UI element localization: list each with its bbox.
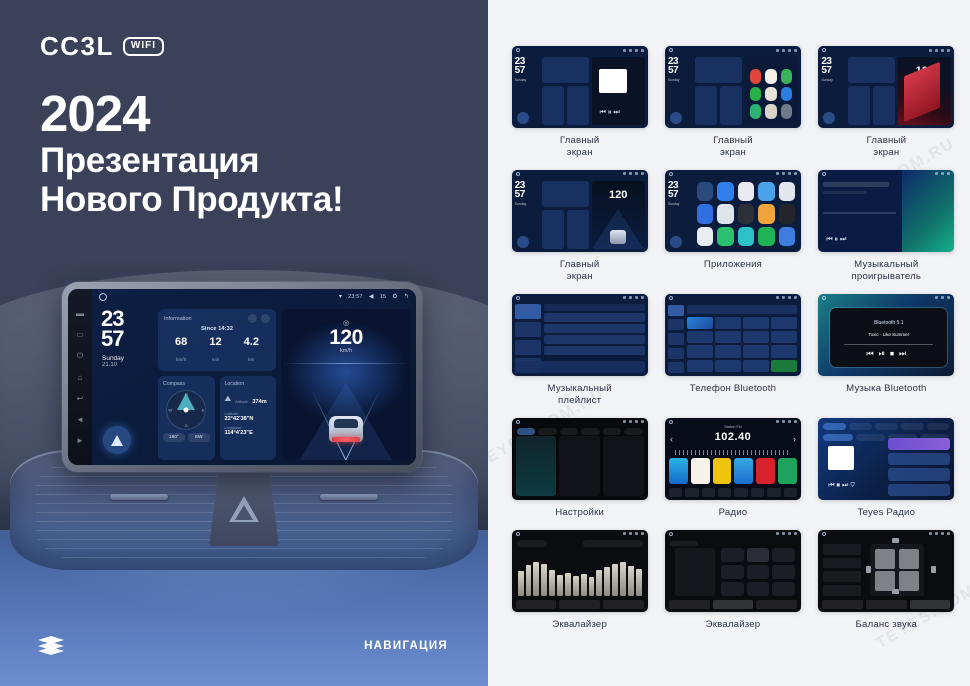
compass-direction: SW	[188, 433, 210, 442]
bluetooth-version: Bluetooth 5.1	[830, 320, 947, 326]
location-card[interactable]: Location ⛰ Altitude 374m	[220, 376, 277, 460]
thumb-clock: 2357Sunday	[515, 57, 539, 125]
side-button-column[interactable]: ▬ ▭ ⏻ ⌂ ↩ ◄ ►	[68, 289, 92, 465]
screen-thumbnail-home-speed-red[interactable]: 2357Sunday 105	[818, 46, 954, 128]
screen-thumbnail-home-apps[interactable]: 2357Sunday	[665, 46, 801, 128]
side-button-eject-icon[interactable]: ▭	[76, 330, 85, 339]
balance-presets[interactable]	[823, 544, 861, 596]
status-volume: 15	[380, 294, 387, 300]
longitude-label: Longitude	[225, 426, 272, 430]
carplay-panel	[559, 436, 600, 496]
location-latitude: Latitude 22°42'38"N	[225, 412, 272, 422]
compass-s: S	[185, 423, 188, 428]
gallery-caption: Музыкальный проигрыватель	[852, 259, 922, 283]
preset-tile	[747, 565, 770, 579]
hazard-triangle-icon	[229, 496, 259, 522]
screens-gallery-panel: TEYES.COM.RU TEYES.COM.RU TEYES.COM.RU T…	[488, 0, 970, 686]
station-presets[interactable]	[669, 458, 797, 484]
gallery-item[interactable]: Музыкальный плейлист	[506, 294, 653, 418]
station-preset	[669, 458, 688, 484]
gallery-item[interactable]: 2357Sunday Приложения	[659, 170, 806, 294]
list-item	[888, 438, 950, 450]
tab-display	[560, 428, 579, 435]
compass-center-dot	[184, 408, 189, 413]
screen-thumbnail-settings[interactable]	[512, 418, 648, 500]
dialpad-key	[743, 345, 769, 357]
dialpad-key	[715, 345, 741, 357]
screen-thumbnail-music-player[interactable]: ⏮ ⏸ ⏭	[818, 170, 954, 252]
teyes-tabs[interactable]	[823, 423, 949, 430]
screen-thumbnail-teyes-radio[interactable]: ⏮ ⏹ ⏭ ♡	[818, 418, 954, 500]
bluetooth-player-card: Bluetooth 5.1 Toxic · Like Summer ⏮⏯⏹⏭	[830, 308, 947, 367]
status-time: 23:57	[348, 294, 363, 300]
head-unit-bezel: ▬ ▭ ⏻ ⌂ ↩ ◄ ► ▾ 23:57 ◀ 15	[68, 289, 416, 465]
headline-line2: Нового Продукта!	[40, 180, 460, 220]
audio-tabs[interactable]	[669, 600, 797, 609]
screen-thumbnail-home-speed[interactable]: 2357Sunday 120	[512, 170, 648, 252]
station-preset	[756, 458, 775, 484]
speed-unit: km/h	[281, 348, 411, 354]
more-panel	[603, 436, 644, 496]
app-drawer-grid[interactable]	[695, 180, 797, 248]
location-altitude: ⛰ Altitude 374m	[225, 390, 272, 408]
track-artist	[823, 191, 867, 194]
home-screen-content: 23 57 Sunday 21.10 Information	[92, 304, 416, 465]
gallery-caption: Главный экран	[560, 135, 600, 159]
preset-tile	[747, 582, 770, 596]
sound-effect-presets[interactable]	[721, 548, 795, 596]
vent-knob-right	[320, 494, 378, 500]
dialpad-key	[771, 331, 797, 343]
radio-frequency: 102.40	[665, 431, 801, 443]
vent-knob-left	[110, 494, 168, 500]
hazard-button[interactable]	[209, 470, 279, 546]
tab-system	[581, 428, 600, 435]
information-header: Information	[164, 314, 270, 323]
equalizer-sliders[interactable]	[518, 552, 642, 596]
station-preset	[778, 458, 797, 484]
navigation-label: НАВИГАЦИЯ	[364, 640, 448, 652]
section-label	[670, 541, 698, 546]
screen-thumbnail-balance[interactable]	[818, 530, 954, 612]
gallery-caption: Главный экран	[560, 259, 600, 283]
call-button	[771, 360, 797, 372]
head-unit-screen[interactable]: ▾ 23:57 ◀ 15 ⚙ ↰ 23 57 Sunday	[92, 289, 416, 465]
information-title: Information	[164, 316, 192, 322]
layers-icon[interactable]	[38, 636, 64, 656]
now-playing-bar[interactable]	[515, 361, 645, 373]
album-art	[828, 446, 854, 470]
bass-treble-sliders[interactable]	[675, 548, 715, 596]
dialpad-key	[687, 317, 713, 329]
preset-tile	[772, 565, 795, 579]
prev-station-button[interactable]: ‹	[670, 434, 673, 444]
gallery-caption: Баланс звука	[856, 619, 918, 631]
presentation-slide: CC3L WIFI 2024 Презентация Нового Продук…	[0, 0, 970, 686]
compass-heading: 180°	[163, 433, 185, 442]
gallery-item[interactable]: 2357Sunday 120 Главный экран	[506, 170, 653, 294]
preset-tile	[747, 548, 770, 562]
gallery-caption: Главный экран	[713, 135, 753, 159]
screen-thumbnail-radio[interactable]: Station FM 102.40 ‹ ›	[665, 418, 801, 500]
list-item	[544, 335, 645, 344]
list-item	[544, 313, 645, 322]
next-station-button[interactable]: ›	[793, 434, 796, 444]
compass-w: W	[168, 408, 172, 413]
screen-thumbnail-bt-phone[interactable]	[665, 294, 801, 376]
preset-tile	[721, 565, 744, 579]
brand-logo: CC3L WIFI	[40, 33, 164, 59]
head-unit-device: ▬ ▭ ⏻ ⌂ ↩ ◄ ► ▾ 23:57 ◀ 15	[62, 282, 422, 472]
left-button[interactable]	[866, 566, 871, 573]
screen-thumbnail-apps[interactable]: 2357Sunday	[665, 170, 801, 252]
dialpad-key	[771, 345, 797, 357]
clock-date: 21.10	[97, 362, 153, 368]
side-button-volume-down-icon[interactable]: ◄	[76, 415, 85, 424]
compass-title: Compass	[163, 381, 210, 387]
home-icon	[516, 48, 520, 52]
gallery-item[interactable]: ⏮ ⏹ ⏭ ♡ Teyes Радио	[813, 418, 960, 530]
dialpad-key	[743, 331, 769, 343]
teyes-now-playing: ⏮ ⏹ ⏭ ♡	[822, 438, 882, 496]
trip-since: Since 14:32	[164, 326, 270, 332]
app-shortcuts[interactable]	[748, 67, 794, 121]
compass-n: N	[185, 392, 188, 397]
headline: 2024 Презентация Нового Продукта!	[40, 88, 460, 220]
tuning-scale[interactable]	[675, 450, 791, 455]
car-avatar	[329, 416, 363, 448]
settings-tabs[interactable]	[517, 428, 643, 435]
list-item	[888, 468, 950, 480]
gallery-item[interactable]: 2357Sunday 105 Главный экран	[813, 46, 960, 170]
dialpad-key	[771, 317, 797, 329]
gallery-caption: Музыка Bluetooth	[846, 383, 926, 395]
compass-dial: N S E W	[166, 390, 206, 430]
gallery-caption: Телефон Bluetooth	[690, 383, 776, 395]
front-button[interactable]	[892, 538, 899, 543]
list-item	[544, 324, 645, 333]
album-art	[599, 69, 627, 93]
dialpad-key	[715, 331, 741, 343]
gallery-item[interactable]: ⏮ ⏸ ⏭ Музыкальный проигрыватель	[813, 170, 960, 294]
progress-bar[interactable]	[844, 344, 933, 346]
side-button-power-icon[interactable]: ⏻	[76, 351, 85, 360]
stat-duration: 12 min	[209, 336, 221, 366]
gallery-item[interactable]: 2357Sunday ⏮ ⏸ ⏭ Главный экран	[506, 46, 653, 170]
wifi-icon: ▾	[339, 293, 342, 300]
refresh-icon[interactable]	[248, 314, 257, 323]
headline-year: 2024	[40, 88, 460, 141]
gallery-item[interactable]: 2357Sunday Главный экран	[659, 46, 806, 170]
gallery-item[interactable]: Эквалайзер	[659, 530, 806, 642]
gallery-caption: Радио	[719, 507, 748, 519]
dialpad-key	[687, 331, 713, 343]
gallery-item[interactable]: Настройки	[506, 418, 653, 530]
compass-card[interactable]: Compass N S E W	[158, 376, 215, 460]
screen-thumbnail-bt-music[interactable]: Bluetooth 5.1 Toxic · Like Summer ⏮⏯⏹⏭	[818, 294, 954, 376]
playback-controls[interactable]: ⏮ ⏸ ⏭	[826, 236, 846, 244]
list-item	[888, 453, 950, 465]
tab-sound	[538, 428, 557, 435]
settings-panels[interactable]	[516, 436, 644, 496]
car-window	[334, 419, 358, 428]
longitude-value: 114°4'23"E	[225, 430, 272, 436]
audio-tabs[interactable]	[822, 600, 950, 609]
speed-value: 120	[592, 189, 645, 201]
screen-thumbnail-playlist[interactable]	[512, 294, 648, 376]
preset-tile	[772, 582, 795, 596]
left-hero-panel: CC3L WIFI 2024 Презентация Нового Продук…	[0, 0, 488, 686]
lower-widgets-row: Compass N S E W	[158, 376, 276, 460]
dialpad-key	[715, 360, 741, 372]
brand-model: CC3L	[40, 33, 114, 59]
status-home-icon[interactable]	[99, 293, 107, 301]
clock-widget: 23 57 Sunday 21.10	[97, 309, 153, 460]
gallery-caption: Эквалайзер	[706, 619, 761, 631]
wifi-badge: WIFI	[123, 37, 164, 56]
compass-e: E	[202, 408, 205, 413]
preset-tile	[721, 548, 744, 562]
playback-controls[interactable]: ⏮ ⏹ ⏭ ♡	[828, 482, 855, 490]
playback-controls[interactable]: ⏮⏯⏹⏭	[830, 349, 947, 359]
location-title: Location	[225, 381, 272, 387]
navigation-arrow-icon[interactable]	[103, 426, 131, 454]
trip-stats: 68 km/h 12 min 4.2 km	[164, 336, 270, 366]
screen-thumbnail-equalizer-bars[interactable]	[512, 530, 648, 612]
gallery-caption: Teyes Радио	[858, 507, 916, 519]
preset-label	[517, 540, 547, 547]
gallery-item[interactable]: Bluetooth 5.1 Toxic · Like Summer ⏮⏯⏹⏭ М…	[813, 294, 960, 418]
side-button-home-icon[interactable]: ⌂	[76, 373, 85, 382]
dialpad-key	[743, 317, 769, 329]
stat-distance: 4.2 km	[244, 336, 259, 366]
rear-button[interactable]	[892, 589, 899, 594]
tab-general	[603, 428, 622, 435]
station-preset	[713, 458, 732, 484]
latitude-label: Latitude	[225, 412, 272, 416]
radio-band: Station FM	[665, 425, 801, 429]
screens-grid: 2357Sunday ⏮ ⏸ ⏭ Главный экран	[506, 46, 960, 642]
preset-tile	[721, 582, 744, 596]
radio-toolbar[interactable]	[669, 488, 797, 497]
bt-track-title: Toxic · Like Summer	[830, 332, 947, 337]
dialpad-key	[715, 317, 741, 329]
speedometer-icon: ◎	[281, 319, 411, 327]
gallery-caption: Эквалайзер	[552, 619, 607, 631]
preset-tile	[772, 548, 795, 562]
teyes-station-list[interactable]	[888, 438, 950, 496]
back-icon[interactable]: ↰	[404, 293, 409, 300]
horizon-line	[281, 363, 411, 364]
waveform-art	[902, 170, 954, 252]
expand-icon[interactable]	[261, 314, 270, 323]
dialpad-key	[687, 345, 713, 357]
side-button-volume-up-icon[interactable]: ►	[76, 436, 85, 445]
audio-tabs[interactable]	[516, 600, 644, 609]
dialed-number-field[interactable]	[687, 305, 797, 314]
clock-weekday: Sunday	[97, 355, 153, 362]
progress-bar[interactable]	[823, 212, 896, 214]
station-preset	[691, 458, 710, 484]
gallery-caption: Главный экран	[867, 135, 907, 159]
clock-minutes: 57	[97, 329, 153, 349]
gallery-item[interactable]: Баланс звука	[813, 530, 960, 642]
gallery-caption: Настройки	[555, 507, 604, 519]
left-footer: НАВИГАЦИЯ	[0, 616, 488, 686]
wifi-panel	[516, 436, 557, 496]
information-actions[interactable]	[248, 314, 270, 323]
right-button[interactable]	[931, 566, 936, 573]
gallery-caption: Приложения	[704, 259, 762, 271]
speed-value: 120	[281, 327, 411, 348]
list-item	[888, 484, 950, 496]
phone-sidebar[interactable]	[668, 305, 684, 373]
information-card[interactable]: Information Since 14:32 68	[158, 309, 276, 371]
driving-view-widget[interactable]: ◎ 120 km/h	[281, 309, 411, 460]
side-button-mute-icon[interactable]: ▬	[76, 309, 85, 318]
screen-thumbnail-home-media[interactable]: 2357Sunday ⏮ ⏸ ⏭	[512, 46, 648, 128]
station-preset	[734, 458, 753, 484]
screen-thumbnail-equalizer-sliders[interactable]	[665, 530, 801, 612]
status-bar: ▾ 23:57 ◀ 15 ⚙ ↰	[92, 289, 416, 304]
altitude-label: Altitude	[235, 400, 248, 404]
dialpad[interactable]	[687, 317, 797, 372]
track-title	[823, 182, 889, 187]
dialpad-key	[687, 360, 713, 372]
widgets-column: Information Since 14:32 68	[158, 309, 276, 460]
altitude-value: 374m	[252, 399, 266, 405]
tab-wifi	[517, 428, 536, 435]
headline-line1: Презентация	[40, 141, 460, 181]
gallery-item[interactable]: Телефон Bluetooth	[659, 294, 806, 418]
dialpad-key	[743, 360, 769, 372]
volume-icon: ◀	[369, 293, 374, 300]
list-item	[544, 346, 645, 355]
stat-speed: 68 km/h	[175, 336, 187, 366]
preset-selector[interactable]	[583, 540, 643, 547]
mountain-icon: ⛰	[225, 394, 232, 404]
location-longitude: Longitude 114°4'23"E	[225, 426, 272, 436]
gallery-item[interactable]: Эквалайзер	[506, 530, 653, 642]
gallery-item[interactable]: Station FM 102.40 ‹ ›	[659, 418, 806, 530]
status-right-cluster: ▾ 23:57 ◀ 15 ⚙ ↰	[339, 293, 409, 300]
latitude-value: 22°42'38"N	[225, 416, 272, 422]
speed-readout: ◎ 120 km/h	[281, 319, 411, 354]
side-button-back-icon[interactable]: ↩	[76, 394, 85, 403]
compass-readouts: 180° SW	[163, 433, 210, 442]
gallery-caption: Музыкальный плейлист	[548, 383, 612, 407]
tab-about	[624, 428, 643, 435]
car-taillight	[332, 437, 360, 442]
navigation-arrow-icon	[517, 112, 529, 124]
gear-icon[interactable]: ⚙	[392, 293, 398, 300]
